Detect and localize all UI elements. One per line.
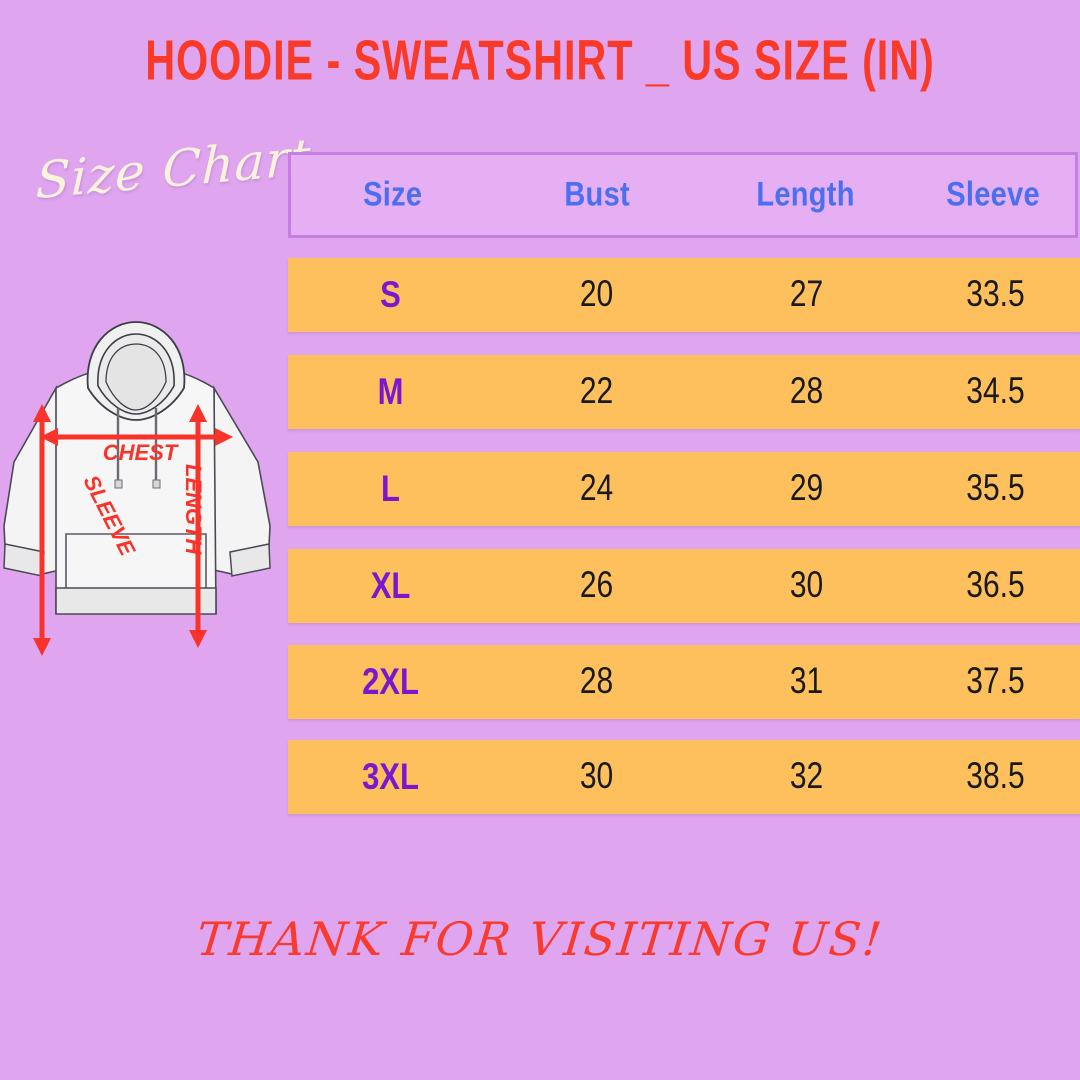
cell-size: 3XL: [288, 755, 493, 798]
page-title: HOODIE - SWEATSHIRT _ US SIZE (IN): [43, 28, 1037, 93]
cell-bust: 28: [493, 661, 700, 702]
cell-length: 31: [700, 661, 913, 702]
length-label: LENGTH: [181, 464, 206, 556]
cell-size: 2XL: [288, 660, 493, 703]
cell-size: L: [288, 467, 493, 510]
size-chart-script-label: Size Chart: [35, 130, 286, 210]
cell-sleeve: 34.5: [913, 371, 1078, 412]
table-row: 3XL 30 32 38.5: [288, 740, 1080, 814]
table-row: M 22 28 34.5: [288, 355, 1080, 429]
footer-thank-you: THANK FOR VISITING US!: [0, 912, 1080, 966]
cell-size: M: [288, 370, 493, 413]
column-header-size: Size: [291, 176, 494, 215]
table-row: 2XL 28 31 37.5: [288, 645, 1080, 719]
cell-bust: 30: [493, 756, 700, 797]
size-chart-page: HOODIE - SWEATSHIRT _ US SIZE (IN) Size …: [0, 0, 1080, 1080]
cell-bust: 22: [493, 371, 700, 412]
column-header-length: Length: [700, 176, 911, 215]
hoodie-illustration: CHEST SLEEVE LENGTH: [0, 312, 292, 662]
cell-length: 32: [700, 756, 913, 797]
column-header-bust: Bust: [494, 176, 699, 215]
cell-length: 30: [700, 565, 913, 606]
cell-sleeve: 33.5: [913, 274, 1078, 315]
cell-size: XL: [288, 564, 493, 607]
chest-label: CHEST: [103, 440, 179, 465]
table-row: L 24 29 35.5: [288, 452, 1080, 526]
cell-bust: 24: [493, 468, 700, 509]
table-row: S 20 27 33.5: [288, 258, 1080, 332]
column-header-sleeve: Sleeve: [911, 176, 1075, 215]
table-header-row: Size Bust Length Sleeve: [288, 152, 1078, 238]
size-table: Size Bust Length Sleeve S 20 27 33.5 M 2…: [288, 152, 1080, 812]
cell-sleeve: 37.5: [913, 661, 1078, 702]
cell-bust: 26: [493, 565, 700, 606]
cell-bust: 20: [493, 274, 700, 315]
cell-sleeve: 38.5: [913, 756, 1078, 797]
cell-size: S: [288, 273, 493, 316]
cell-length: 28: [700, 371, 913, 412]
cell-length: 29: [700, 468, 913, 509]
cell-length: 27: [700, 274, 913, 315]
table-row: XL 26 30 36.5: [288, 549, 1080, 623]
cell-sleeve: 35.5: [913, 468, 1078, 509]
cell-sleeve: 36.5: [913, 565, 1078, 606]
